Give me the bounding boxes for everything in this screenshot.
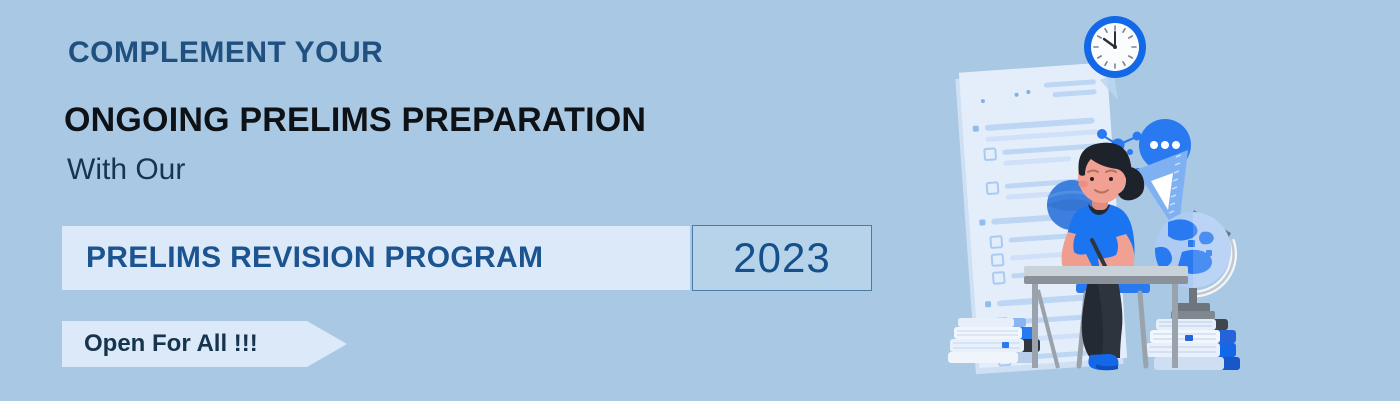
student-studying-illustration	[940, 0, 1400, 401]
program-year-box: 2023	[692, 225, 872, 291]
open-for-all-label: Open For All !!!	[84, 330, 258, 358]
program-name-bar: PRELIMS REVISION PROGRAM	[62, 226, 690, 290]
book-stack-icon	[1146, 319, 1240, 370]
headline-sub: With Our	[67, 153, 185, 187]
open-for-all-ribbon: Open For All !!!	[62, 321, 347, 367]
headline-kicker: COMPLEMENT YOUR	[68, 36, 383, 70]
banner-copy: COMPLEMENT YOUR ONGOING PRELIMS PREPARAT…	[0, 0, 900, 401]
promo-banner: COMPLEMENT YOUR ONGOING PRELIMS PREPARAT…	[0, 0, 1400, 401]
headline-main: ONGOING PRELIMS PREPARATION	[64, 101, 646, 140]
program-name-label: PRELIMS REVISION PROGRAM	[86, 241, 543, 275]
program-year-label: 2023	[693, 234, 871, 282]
